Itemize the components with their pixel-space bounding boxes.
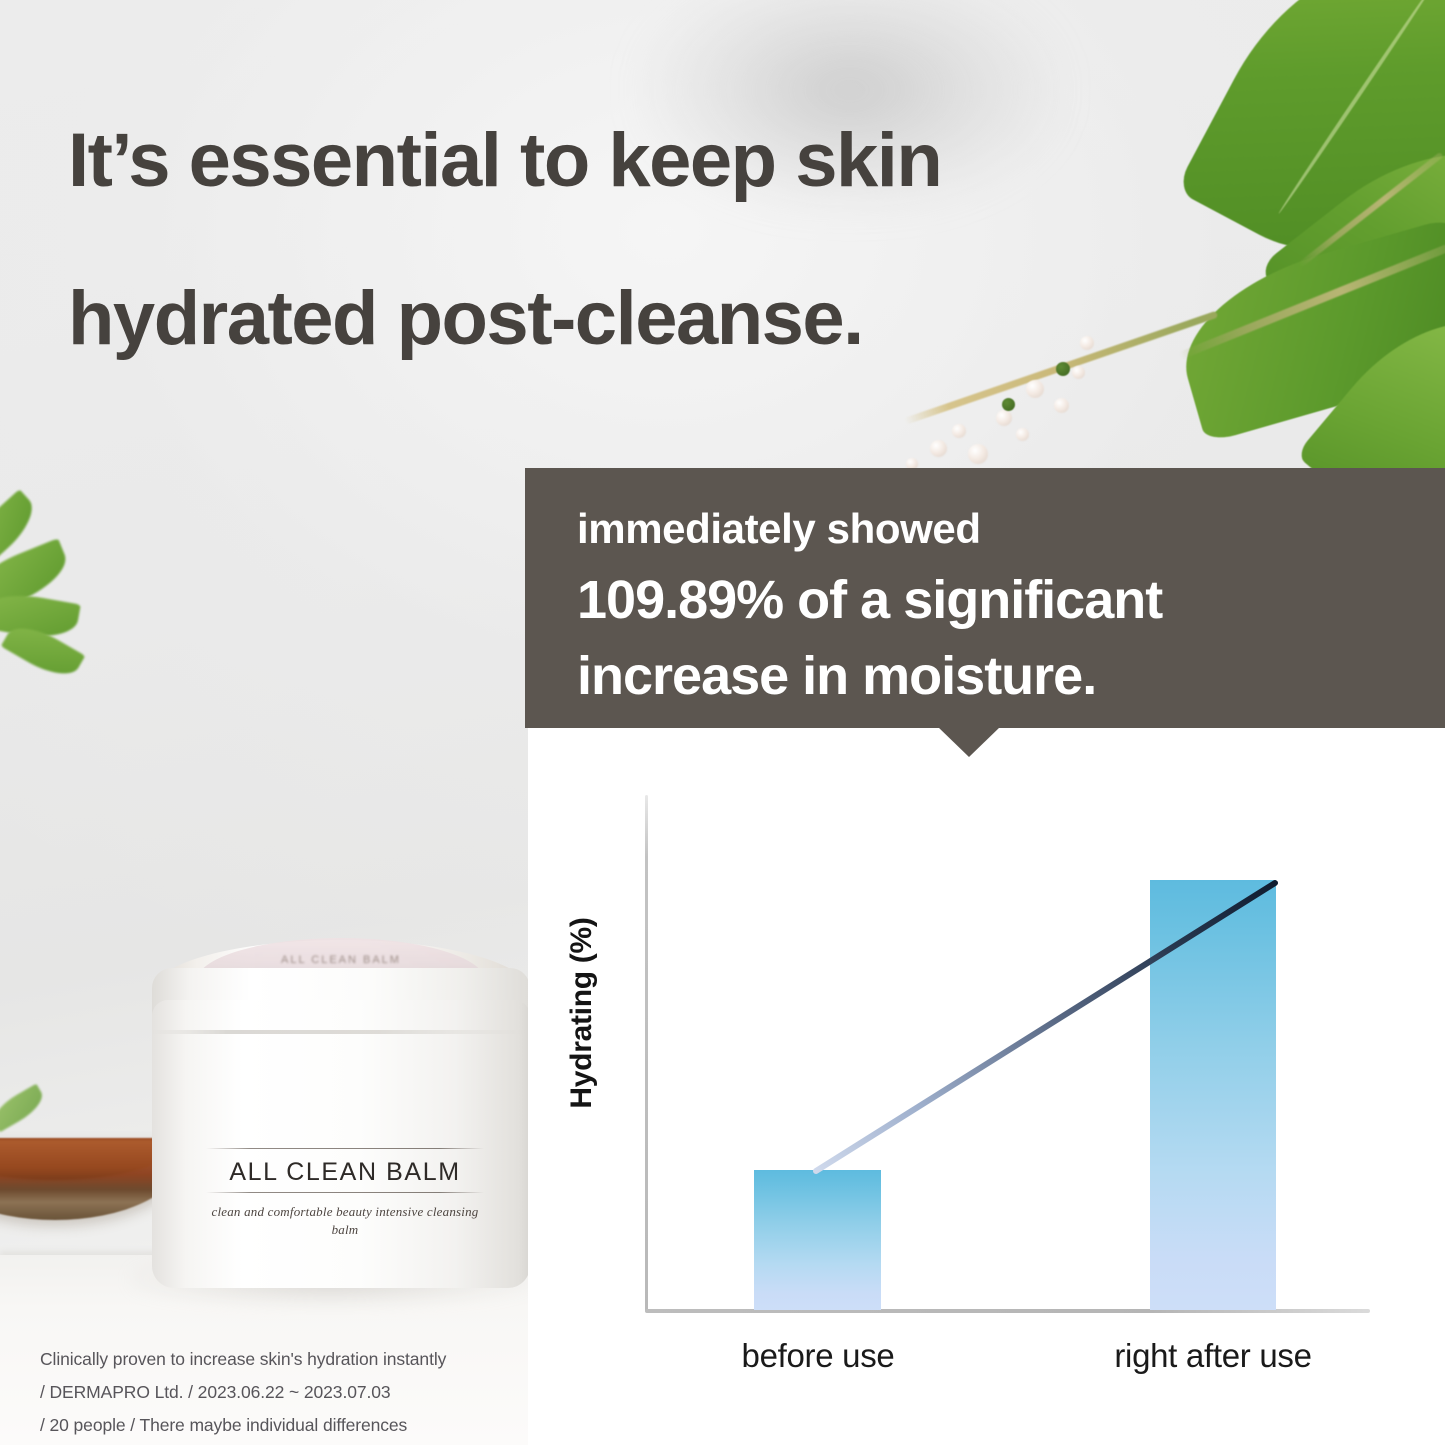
disclaimer-line-3: / 20 people / There maybe individual dif… (40, 1409, 540, 1442)
chart-x-tick-before-use: before use (713, 1337, 923, 1375)
headline-line-1: It’s essential to keep skin (68, 82, 1248, 240)
chart-panel: Hydrating (%) before use right after use (528, 728, 1445, 1445)
jar-lid-sticker-text: ALL CLEAN BALM (196, 954, 486, 966)
advertisement-page: ALL CLEAN BALM ALL CLEAN BALM clean and … (0, 0, 1445, 1445)
blossom-bud-green-icon (1002, 398, 1015, 411)
product-label-title: ALL CLEAN BALM (200, 1158, 490, 1187)
callout-line-1: immediately showed (577, 496, 1445, 562)
product-label-subtitle-line1: clean and comfortable beauty (211, 1204, 371, 1219)
headline-line-2: hydrated post-cleanse. (68, 240, 1248, 398)
blossom-bud-icon (1016, 428, 1029, 441)
statistic-callout: immediately showed 109.89% of a signific… (525, 468, 1445, 728)
callout-line-2: 109.89% of a significant (577, 562, 1445, 638)
disclaimer-line-1: Clinically proven to increase skin's hyd… (40, 1343, 540, 1376)
blossom-bud-icon (968, 444, 988, 464)
callout-tail-icon (938, 727, 1000, 757)
disclaimer-text: Clinically proven to increase skin's hyd… (40, 1343, 540, 1442)
label-rule-top (206, 1148, 484, 1149)
jar-body (152, 1000, 530, 1288)
blossom-bud-icon (930, 440, 947, 457)
disclaimer-line-2: / DERMAPRO Ltd. / 2023.06.22 ~ 2023.07.0… (40, 1376, 540, 1409)
product-label-subtitle: clean and comfortable beauty intensive c… (200, 1203, 490, 1239)
blossom-bud-icon (952, 424, 966, 438)
callout-line-3: increase in moisture. (577, 638, 1445, 714)
page-title: It’s essential to keep skin hydrated pos… (68, 82, 1248, 398)
jar-seam (152, 1030, 530, 1034)
chart-x-tick-right-after-use: right after use (1068, 1337, 1358, 1375)
blossom-bud-icon (996, 410, 1012, 426)
blossom-bud-icon (1054, 398, 1069, 413)
label-rule-bottom (206, 1192, 484, 1193)
